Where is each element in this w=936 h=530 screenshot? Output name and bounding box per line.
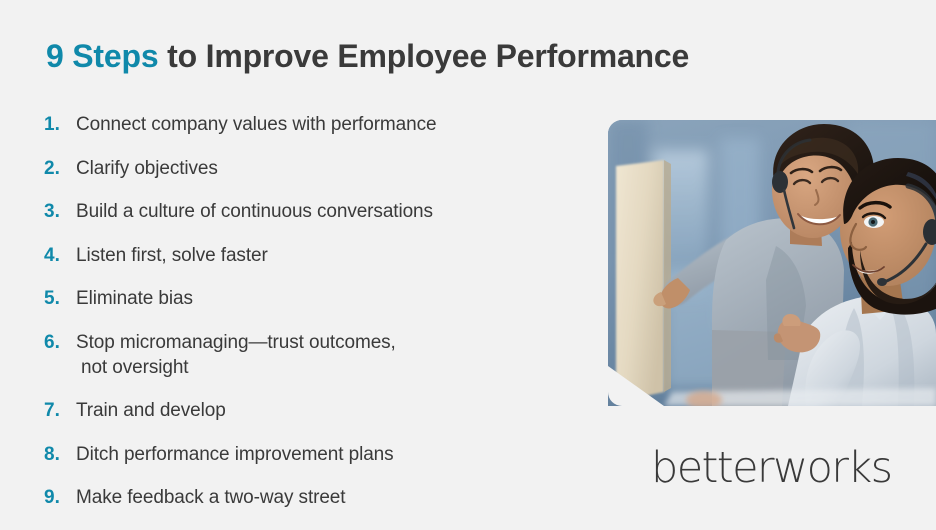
step-label: Connect company values with performance: [76, 112, 580, 137]
list-item: 7. Train and develop: [40, 398, 580, 423]
step-label: Listen first, solve faster: [76, 243, 580, 268]
list-item: 5. Eliminate bias: [40, 286, 580, 311]
steps-list: 1. Connect company values with performan…: [40, 112, 580, 529]
step-label: Make feedback a two-way street: [76, 485, 580, 510]
step-line-1: Build a culture of continuous conversati…: [76, 201, 433, 222]
step-line-1: Make feedback a two-way street: [76, 487, 345, 508]
step-line-1: Clarify objectives: [76, 158, 218, 179]
logo-text: betterworks: [651, 448, 891, 492]
step-label: Clarify objectives: [76, 156, 580, 181]
step-number: 3.: [40, 199, 76, 224]
step-line-1: Connect company values with performance: [76, 114, 436, 135]
page-title: 9 Steps to Improve Employee Performance: [46, 38, 689, 75]
step-line-1: Listen first, solve faster: [76, 245, 268, 266]
step-line-1: Eliminate bias: [76, 288, 193, 309]
step-number: 7.: [40, 398, 76, 423]
step-line-1: Train and develop: [76, 400, 226, 421]
betterworks-wordmark: betterworks: [651, 448, 903, 492]
list-item: 9. Make feedback a two-way street: [40, 485, 580, 510]
page-title-accent: 9 Steps: [46, 38, 158, 74]
step-label: Ditch performance improvement plans: [76, 442, 580, 467]
step-number: 1.: [40, 112, 76, 137]
step-line-2: not oversight: [76, 355, 580, 380]
step-line-1: Ditch performance improvement plans: [76, 444, 394, 465]
step-label: Train and develop: [76, 398, 580, 423]
step-number: 8.: [40, 442, 76, 467]
step-line-1: Stop micromanaging—trust outcomes,: [76, 332, 396, 353]
page-title-rest: to Improve Employee Performance: [158, 38, 689, 74]
slide-root: 9 Steps to Improve Employee Performance …: [0, 0, 936, 530]
list-item: 1. Connect company values with performan…: [40, 112, 580, 137]
list-item: 3. Build a culture of continuous convers…: [40, 199, 580, 224]
office-collaboration-photo: [608, 120, 936, 406]
step-label: Eliminate bias: [76, 286, 580, 311]
step-label: Stop micromanaging—trust outcomes,not ov…: [76, 330, 580, 380]
list-item: 4. Listen first, solve faster: [40, 243, 580, 268]
step-number: 5.: [40, 286, 76, 311]
list-item: 6. Stop micromanaging—trust outcomes,not…: [40, 330, 580, 380]
step-number: 2.: [40, 156, 76, 181]
step-label: Build a culture of continuous conversati…: [76, 199, 580, 224]
step-number: 4.: [40, 243, 76, 268]
step-number: 6.: [40, 330, 76, 355]
step-number: 9.: [40, 485, 76, 510]
list-item: 8. Ditch performance improvement plans: [40, 442, 580, 467]
list-item: 2. Clarify objectives: [40, 156, 580, 181]
